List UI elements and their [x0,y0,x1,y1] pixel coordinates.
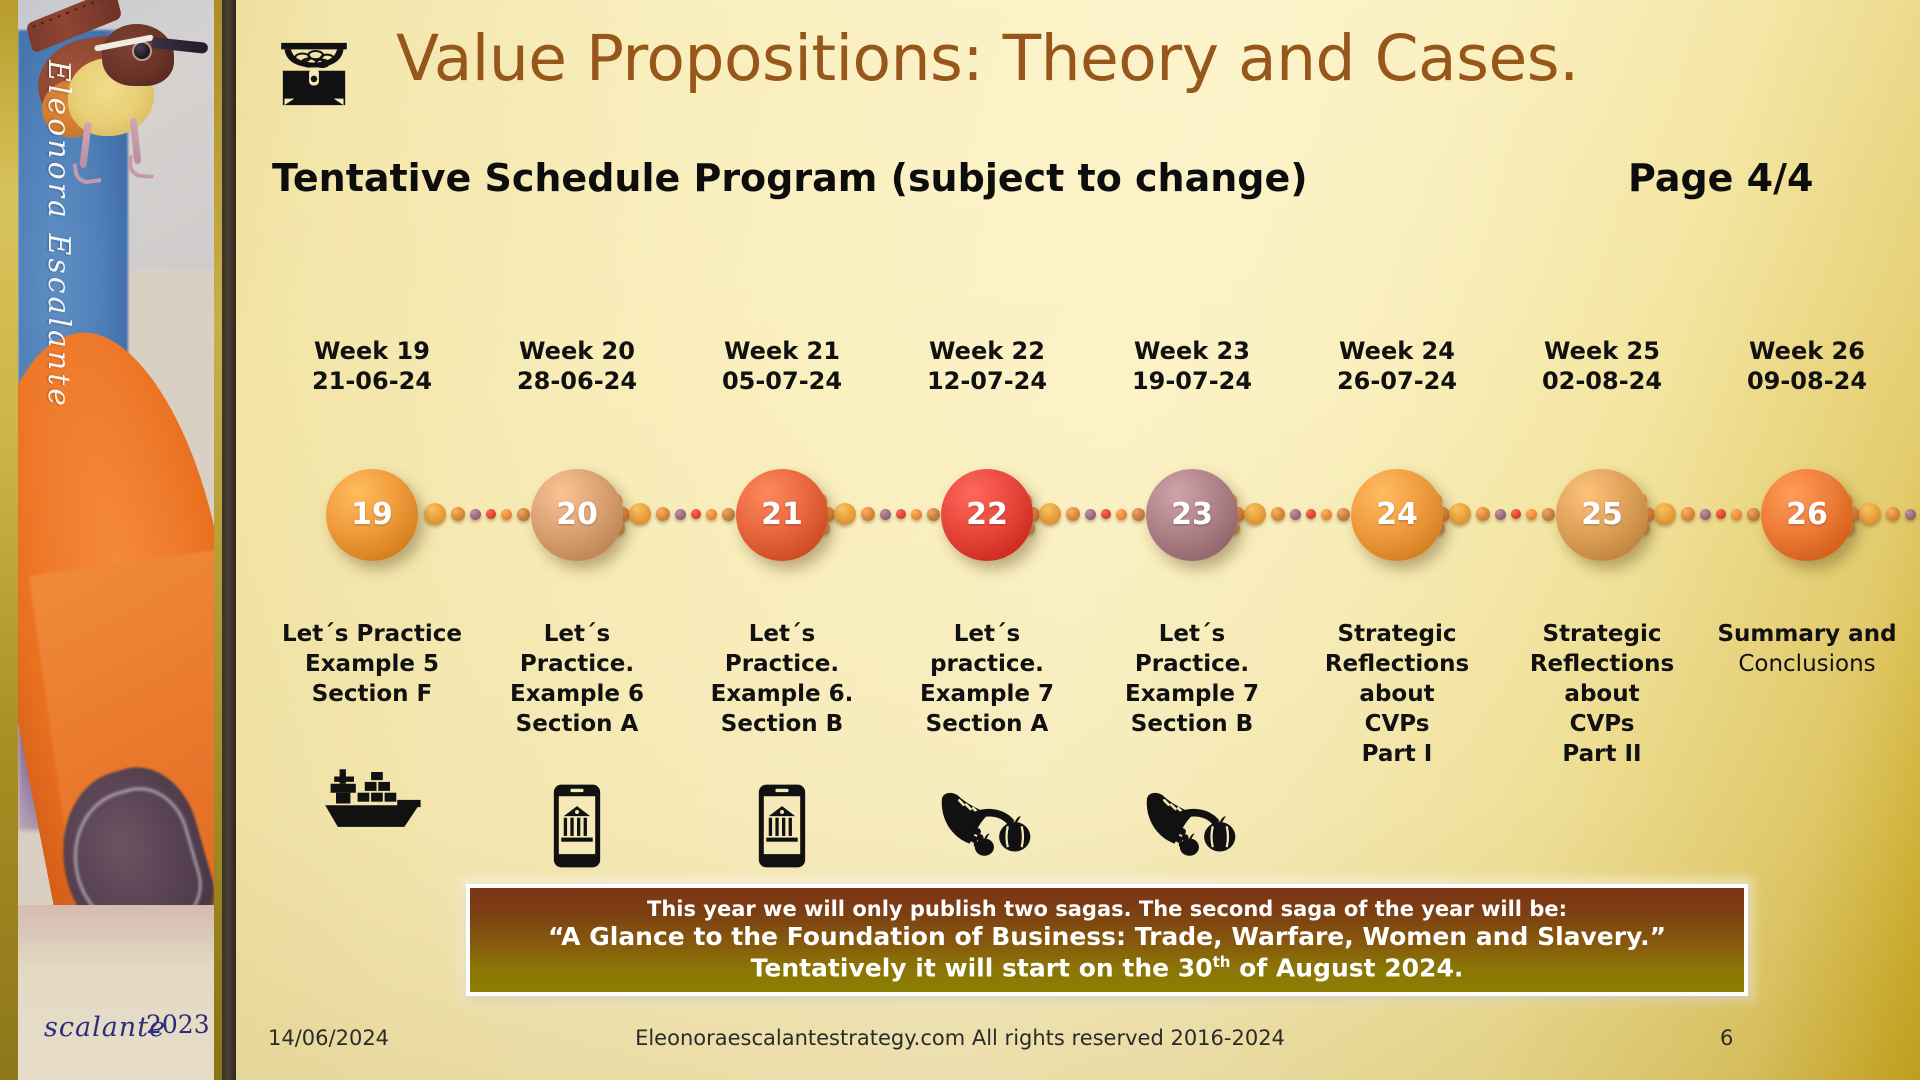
description-line: Section A [472,710,682,740]
week-label: Week 19 [314,337,430,365]
week-header-7: Week 2502-08-24 [1502,336,1702,396]
description-line: Summary and [1702,620,1912,650]
description-line: Section B [677,710,887,740]
banner-line-1: This year we will only publish two sagas… [647,897,1567,923]
week-header-2: Week 2028-06-24 [477,336,677,396]
slide-canvas: Eleonora Escalante scalante 2023 Value P… [0,0,1920,1080]
description-line: CVPs [1292,710,1502,740]
timeline-node-week-25[interactable]: 25 [1556,469,1648,561]
week-date: 02-08-24 [1502,366,1702,396]
week-description-6: StrategicReflectionsaboutCVPsPart I [1292,620,1502,769]
connector-bead [1132,508,1145,521]
connector-bead [1542,508,1555,521]
timeline-node-week-24[interactable]: 24 [1351,469,1443,561]
description-line: about [1292,680,1502,710]
description-line: Section B [1087,710,1297,740]
footer-copyright: Eleonoraescalantestrategy.com All rights… [0,1026,1920,1050]
timeline-node-week-23[interactable]: 23 [1146,469,1238,561]
description-line: Let´s [882,620,1092,650]
connector-bead [1716,509,1726,519]
timeline-connector-beads [1244,480,1351,550]
timeline-node-week-26[interactable]: 26 [1761,469,1853,561]
description-line: Section F [267,680,477,710]
timeline-node-number: 19 [351,497,393,532]
connector-bead [880,509,891,520]
connector-bead [1101,509,1111,519]
connector-bead [1654,503,1676,525]
description-line: CVPs [1497,710,1707,740]
description-line: Conclusions [1702,650,1912,680]
cornucopia-icon [1092,783,1292,861]
connector-bead [1495,509,1506,520]
week-header-6: Week 2426-07-24 [1297,336,1497,396]
week-date: 26-07-24 [1297,366,1497,396]
week-description-7: StrategicReflectionsaboutCVPsPart II [1497,620,1707,769]
connector-bead [927,508,940,521]
connector-bead [691,509,701,519]
week-description-5: Let´sPractice.Example 7Section B [1087,620,1297,740]
description-line: Example 6 [472,680,682,710]
description-line: Practice. [1087,650,1297,680]
connector-bead [1244,503,1266,525]
week-label: Week 20 [519,337,635,365]
connector-bead [501,509,512,520]
connector-bead [1905,509,1916,520]
connector-bead [1039,503,1061,525]
connector-bead [1886,507,1900,521]
description-line: Part II [1497,740,1707,770]
week-description-2: Let´sPractice.Example 6Section A [472,620,682,740]
week-date: 05-07-24 [682,366,882,396]
week-description-8: Summary andConclusions [1702,620,1912,680]
description-line: Let´s [1087,620,1297,650]
connector-bead [629,503,651,525]
connector-bead [1337,508,1350,521]
description-line: Practice. [472,650,682,680]
connector-bead [1290,509,1301,520]
connector-bead [722,508,735,521]
connector-bead [1700,509,1711,520]
footer-page-number: 6 [1720,1026,1733,1050]
connector-bead [861,507,875,521]
week-label: Week 23 [1134,337,1250,365]
week-date: 12-07-24 [887,366,1087,396]
description-line: Example 6. [677,680,887,710]
week-header-4: Week 2212-07-24 [887,336,1087,396]
connector-bead [1747,508,1760,521]
description-line: Example 7 [1087,680,1297,710]
week-header-5: Week 2319-07-24 [1092,336,1292,396]
connector-bead [1476,507,1490,521]
connector-bead [1116,509,1127,520]
description-line: Reflections [1292,650,1502,680]
connector-bead [517,508,530,521]
week-label: Week 21 [724,337,840,365]
timeline-connector-beads [629,480,736,550]
connector-bead [1321,509,1332,520]
timeline-connector-beads [424,480,531,550]
timeline-connector-beads [1449,480,1556,550]
description-line: Part I [1292,740,1502,770]
description-line: Strategic [1497,620,1707,650]
connector-bead [834,503,856,525]
timeline-node-number: 22 [966,497,1008,532]
connector-bead [896,509,906,519]
connector-bead [470,509,481,520]
timeline-node-week-22[interactable]: 22 [941,469,1033,561]
cargo-ship-icon [272,763,472,835]
announcement-banner: This year we will only publish two sagas… [466,884,1748,996]
week-header-8: Week 2609-08-24 [1707,336,1907,396]
cornucopia-icon [887,783,1087,861]
connector-bead [656,507,670,521]
week-date: 09-08-24 [1707,366,1907,396]
banner-line-3-post: of August 2024. [1230,953,1463,982]
description-line: Let´s [472,620,682,650]
connector-bead [706,509,717,520]
week-label: Week 24 [1339,337,1455,365]
week-label: Week 22 [929,337,1045,365]
week-description-4: Let´spractice.Example 7Section A [882,620,1092,740]
timeline-node-number: 25 [1581,497,1623,532]
timeline-node-number: 24 [1376,497,1418,532]
description-line: about [1497,680,1707,710]
week-date: 19-07-24 [1092,366,1292,396]
connector-bead [1306,509,1316,519]
mobile-banking-icon [477,783,677,869]
week-date: 21-06-24 [272,366,472,396]
week-label: Week 25 [1544,337,1660,365]
timeline-node-number: 23 [1171,497,1213,532]
connector-bead [486,509,496,519]
week-description-3: Let´sPractice.Example 6.Section B [677,620,887,740]
connector-bead [424,503,446,525]
connector-bead [675,509,686,520]
connector-bead [1859,503,1881,525]
timeline-connector-beads [1859,480,1920,550]
connector-bead [1085,509,1096,520]
timeline-node-week-19[interactable]: 19 [326,469,418,561]
week-header-1: Week 1921-06-24 [272,336,472,396]
description-line: Strategic [1292,620,1502,650]
description-line: Example 5 [267,650,477,680]
week-label: Week 26 [1749,337,1865,365]
timeline-node-number: 20 [556,497,598,532]
connector-bead [1526,509,1537,520]
week-date: 28-06-24 [477,366,677,396]
description-line: Reflections [1497,650,1707,680]
connector-bead [1681,507,1695,521]
timeline-node-week-20[interactable]: 20 [531,469,623,561]
banner-line-3: Tentatively it will start on the 30th of… [751,953,1464,984]
description-line: Example 7 [882,680,1092,710]
timeline-connector-beads [1654,480,1761,550]
banner-line-3-ordinal: th [1213,953,1231,971]
connector-bead [1449,503,1471,525]
banner-line-3-pre: Tentatively it will start on the 30 [751,953,1213,982]
description-line: Practice. [677,650,887,680]
week-header-3: Week 2105-07-24 [682,336,882,396]
connector-bead [1511,509,1521,519]
description-line: practice. [882,650,1092,680]
timeline-node-number: 26 [1786,497,1828,532]
description-line: Let´s Practice [267,620,477,650]
description-line: Section A [882,710,1092,740]
connector-bead [451,507,465,521]
timeline-connector-beads [834,480,941,550]
connector-bead [911,509,922,520]
timeline-connector-beads [1039,480,1146,550]
description-line: Let´s [677,620,887,650]
mobile-banking-icon [682,783,882,869]
week-description-1: Let´s PracticeExample 5Section F [267,620,477,710]
connector-bead [1271,507,1285,521]
connector-bead [1066,507,1080,521]
connector-bead [1731,509,1742,520]
timeline-node-number: 21 [761,497,803,532]
banner-line-2: “A Glance to the Foundation of Business:… [548,922,1666,953]
timeline-node-week-21[interactable]: 21 [736,469,828,561]
